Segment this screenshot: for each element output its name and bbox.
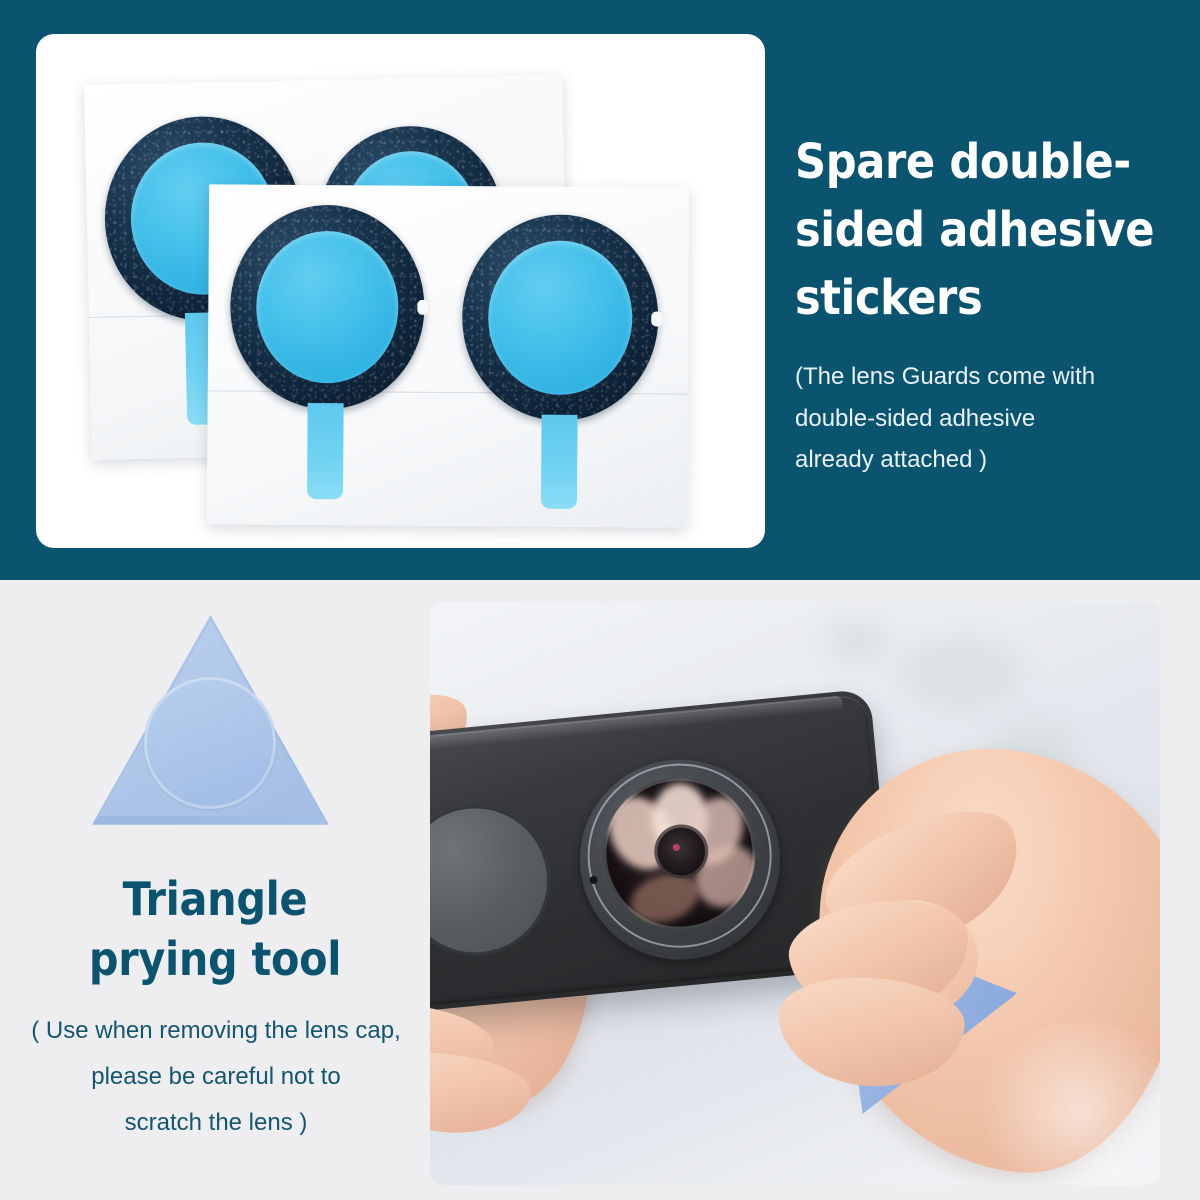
triangle-prying-tool-product <box>92 615 329 843</box>
tool-column: Triangle prying tool ( Use when removing… <box>0 580 430 1200</box>
top-subtitle-line-1: (The lens Guards come with <box>795 356 1187 397</box>
spare-adhesive-stickers-photo <box>36 34 765 548</box>
tool-title: Triangle prying tool <box>0 870 430 990</box>
guard-pull-tab <box>307 403 344 499</box>
guard-pull-tab <box>541 415 578 509</box>
guard-glass <box>488 240 633 395</box>
top-title-line-2: sided adhesive <box>795 196 1187 264</box>
guard-notch <box>651 311 662 326</box>
hands-prying-lens-cap-photo <box>430 602 1160 1185</box>
tool-title-line-2: prying tool <box>0 930 430 990</box>
bottom-panel: Triangle prying tool ( Use when removing… <box>0 580 1200 1200</box>
tool-title-line-1: Triangle <box>0 870 430 930</box>
background-blur-blob <box>822 618 892 662</box>
top-text-block: Spare double- sided adhesive stickers (T… <box>795 128 1187 480</box>
camera-main-lens <box>571 751 789 969</box>
top-title-line-3: stickers <box>795 264 1187 332</box>
top-subtitle: (The lens Guards come with double-sided … <box>795 356 1187 480</box>
tool-caption-line-3: scratch the lens ) <box>6 1100 426 1146</box>
top-title-line-1: Spare double- <box>795 128 1187 196</box>
tool-caption-line-1: ( Use when removing the lens cap, <box>6 1008 426 1054</box>
top-title: Spare double- sided adhesive stickers <box>795 128 1187 332</box>
product-feature-page: Spare double- sided adhesive stickers (T… <box>0 0 1200 1200</box>
guard-glass <box>256 231 399 384</box>
tool-center-disc <box>144 677 276 809</box>
lens-guard-sticker <box>230 204 425 409</box>
tool-caption-line-2: please be careful not to <box>6 1054 426 1100</box>
top-panel: Spare double- sided adhesive stickers (T… <box>0 0 1200 580</box>
guard-notch <box>417 300 428 315</box>
lens-guard-sticker <box>462 214 659 421</box>
top-subtitle-line-3: already attached ) <box>795 439 1187 480</box>
top-subtitle-line-2: double-sided adhesive <box>795 398 1187 439</box>
front-sticker-sheet <box>207 184 689 527</box>
background-blur-blob <box>900 638 1020 708</box>
tool-caption: ( Use when removing the lens cap, please… <box>6 1008 426 1146</box>
